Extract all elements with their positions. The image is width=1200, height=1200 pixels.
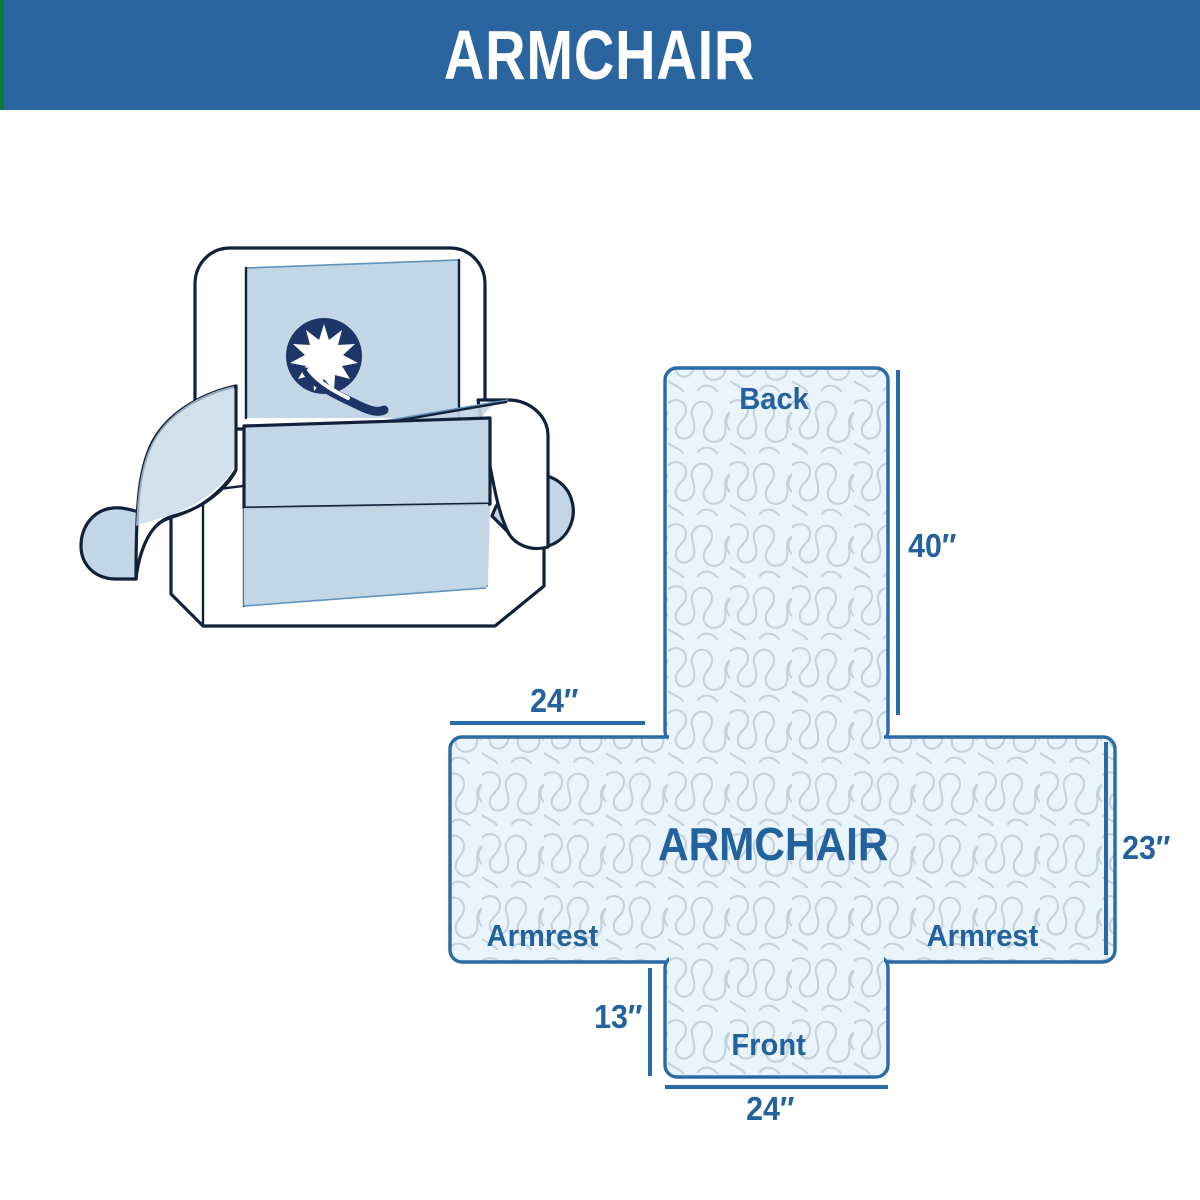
header-banner: ARMCHAIR <box>0 0 1200 110</box>
dimension-label-back-height: 40″ <box>908 527 956 565</box>
panel-label-armrest-right: Armrest <box>927 918 1039 954</box>
slipcover-layout-diagram: .quilt-fill{fill:url(#quilt);stroke:#2a6… <box>420 330 1190 1130</box>
dimension-label-front-width: 24″ <box>746 1090 794 1128</box>
panel-label-front: Front <box>731 1027 805 1063</box>
dimension-label-armrest-width: 24″ <box>530 682 578 720</box>
diagram-product-label: ARMCHAIR <box>658 817 888 871</box>
panel-back <box>665 368 888 743</box>
panel-label-armrest-left: Armrest <box>487 918 599 954</box>
dimension-label-seat-depth: 23″ <box>1122 829 1170 867</box>
page-title: ARMCHAIR <box>444 20 755 90</box>
product-dimension-diagram: ARMCHAIR .ol{fill:none;stroke:#12213a;st… <box>0 0 1200 1200</box>
panel-label-back: Back <box>739 381 809 417</box>
dimension-label-front-drop: 13″ <box>594 998 642 1036</box>
banner-accent-stripe <box>0 0 4 110</box>
